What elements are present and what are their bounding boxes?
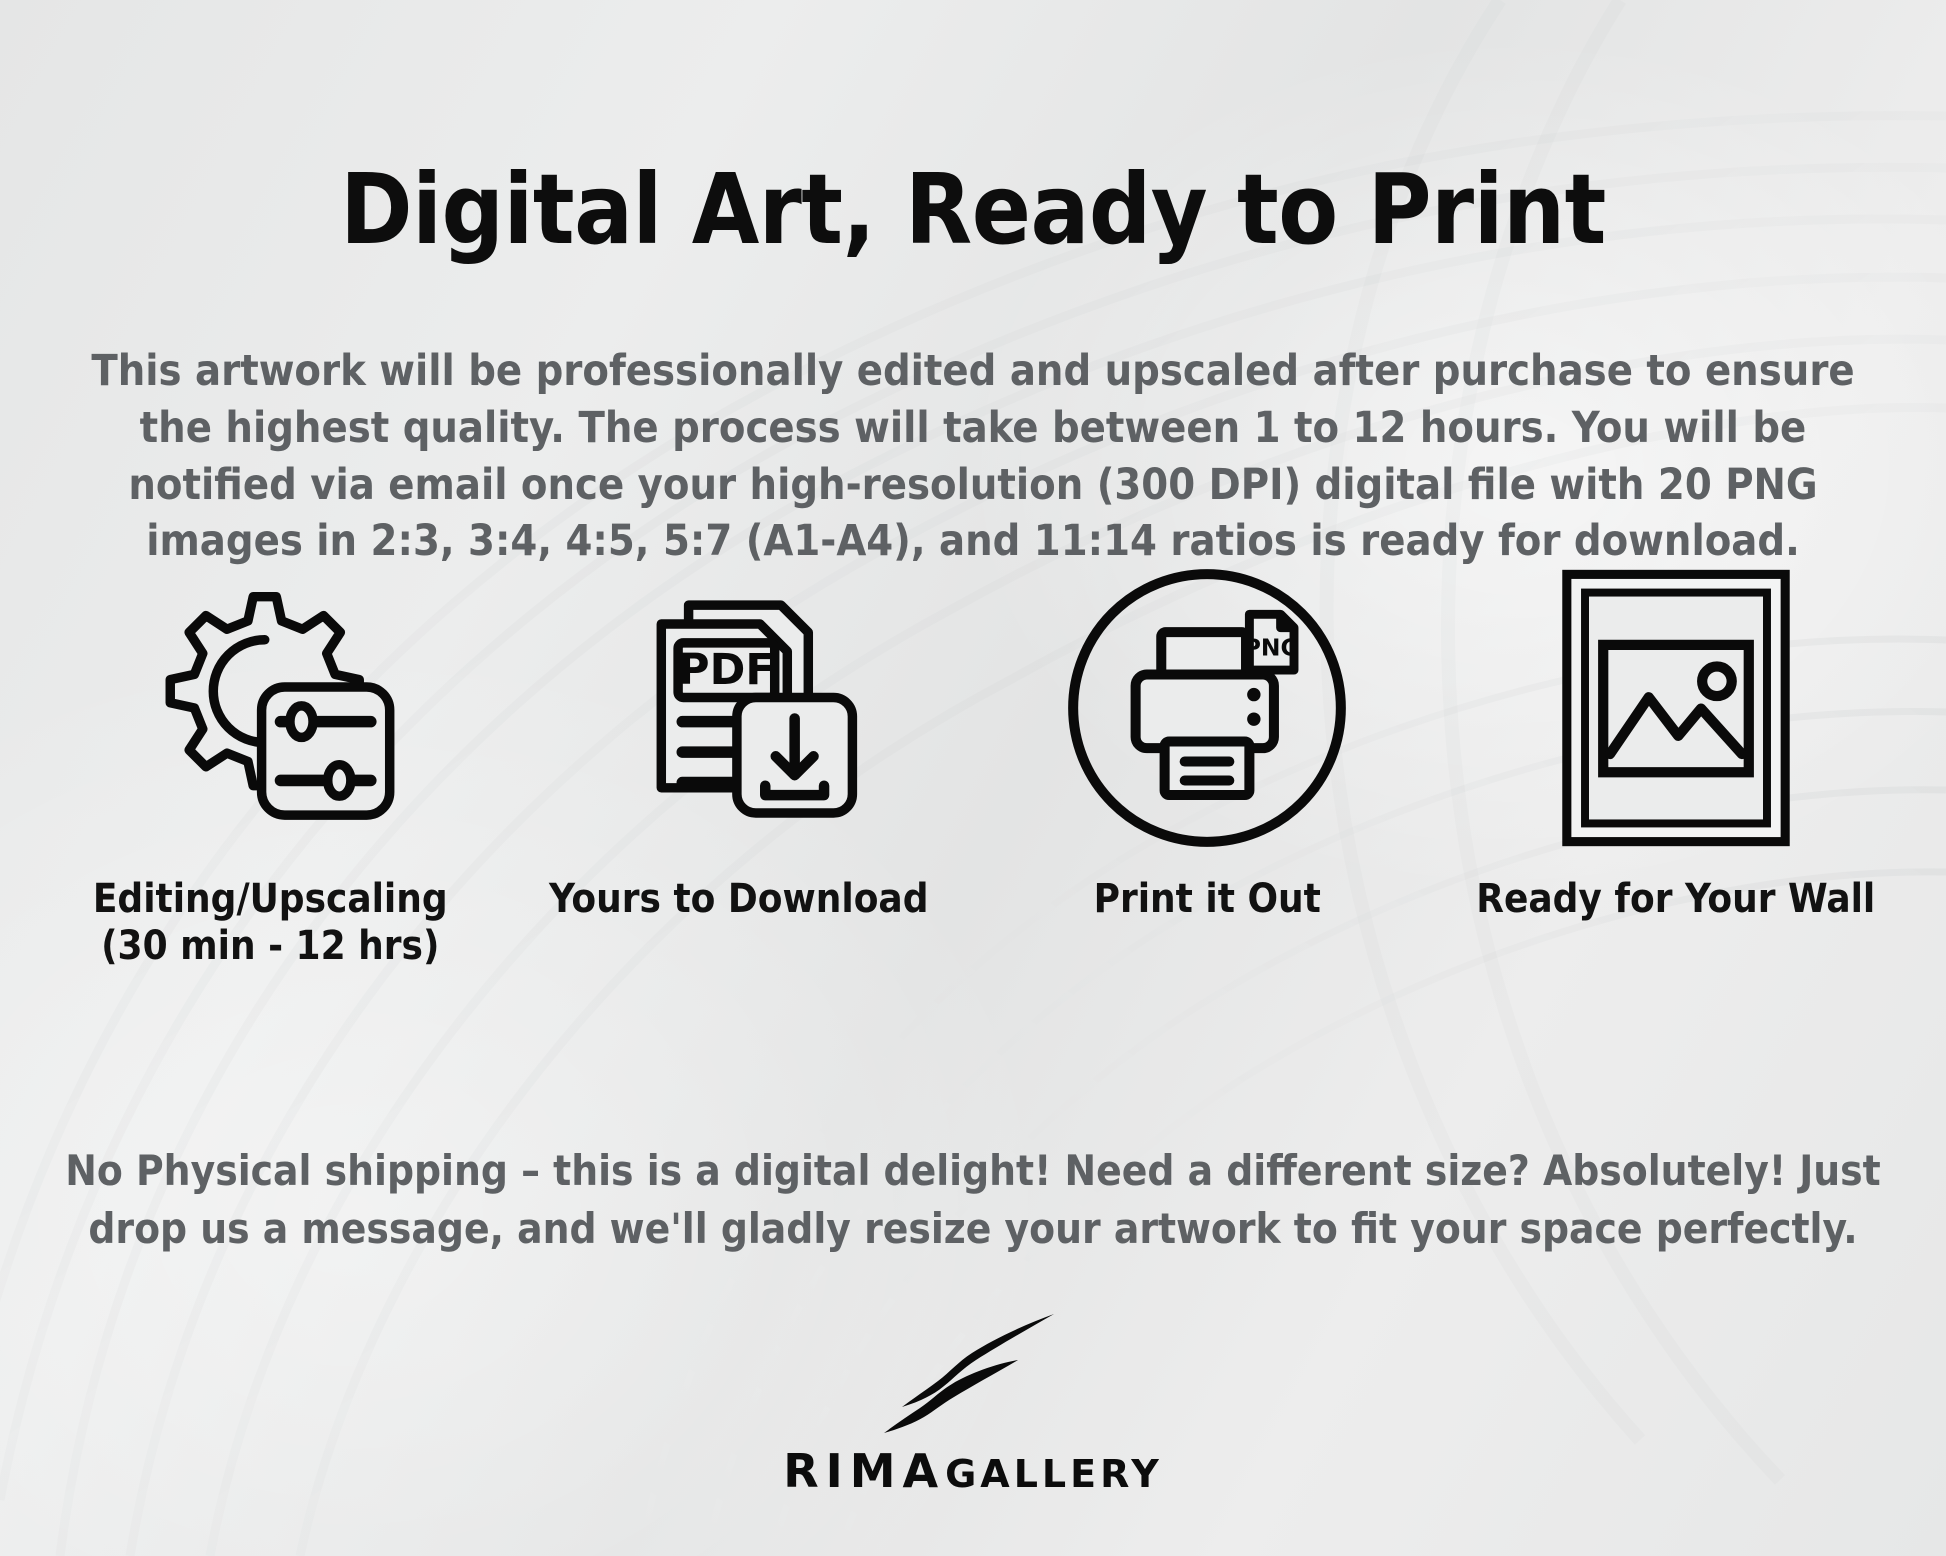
feature-label: Yours to Download — [549, 876, 928, 923]
feature-label: Print it Out — [1094, 876, 1321, 923]
page-title: Digital Art, Ready to Print — [0, 161, 1946, 258]
feature-item-print: PNG Print it Out — [973, 565, 1442, 923]
feature-item-download: PDF — [505, 565, 974, 923]
brand-block: RIMA GALLERY — [0, 1308, 1946, 1498]
feature-label: Editing/Upscaling (30 min - 12 hrs) — [93, 876, 448, 970]
feature-item-wall: Ready for Your Wall — [1442, 565, 1911, 923]
png-badge-text: PNG — [1244, 633, 1300, 661]
feature-label: Ready for Your Wall — [1476, 876, 1875, 923]
pdf-download-icon: PDF — [613, 565, 865, 850]
brand-wordmark: RIMA GALLERY — [783, 1444, 1163, 1498]
intro-paragraph: This artwork will be professionally edit… — [50, 343, 1896, 570]
gear-sliders-icon — [144, 565, 396, 850]
poster-canvas: Digital Art, Ready to Print This artwork… — [0, 0, 1946, 1556]
brand-name-primary: RIMA — [783, 1444, 945, 1498]
footnote-paragraph: No Physical shipping – this is a digital… — [55, 1142, 1891, 1258]
feature-row: Editing/Upscaling (30 min - 12 hrs) PDF — [0, 565, 1946, 970]
feature-item-editing-upscaling: Editing/Upscaling (30 min - 12 hrs) — [36, 565, 505, 970]
pdf-badge-text: PDF — [678, 644, 775, 694]
brand-name-secondary: GALLERY — [945, 1452, 1163, 1496]
framed-picture-icon — [1550, 565, 1802, 850]
printer-circle-icon: PNG — [1062, 565, 1352, 850]
rima-swoosh-logo-icon — [858, 1308, 1088, 1438]
